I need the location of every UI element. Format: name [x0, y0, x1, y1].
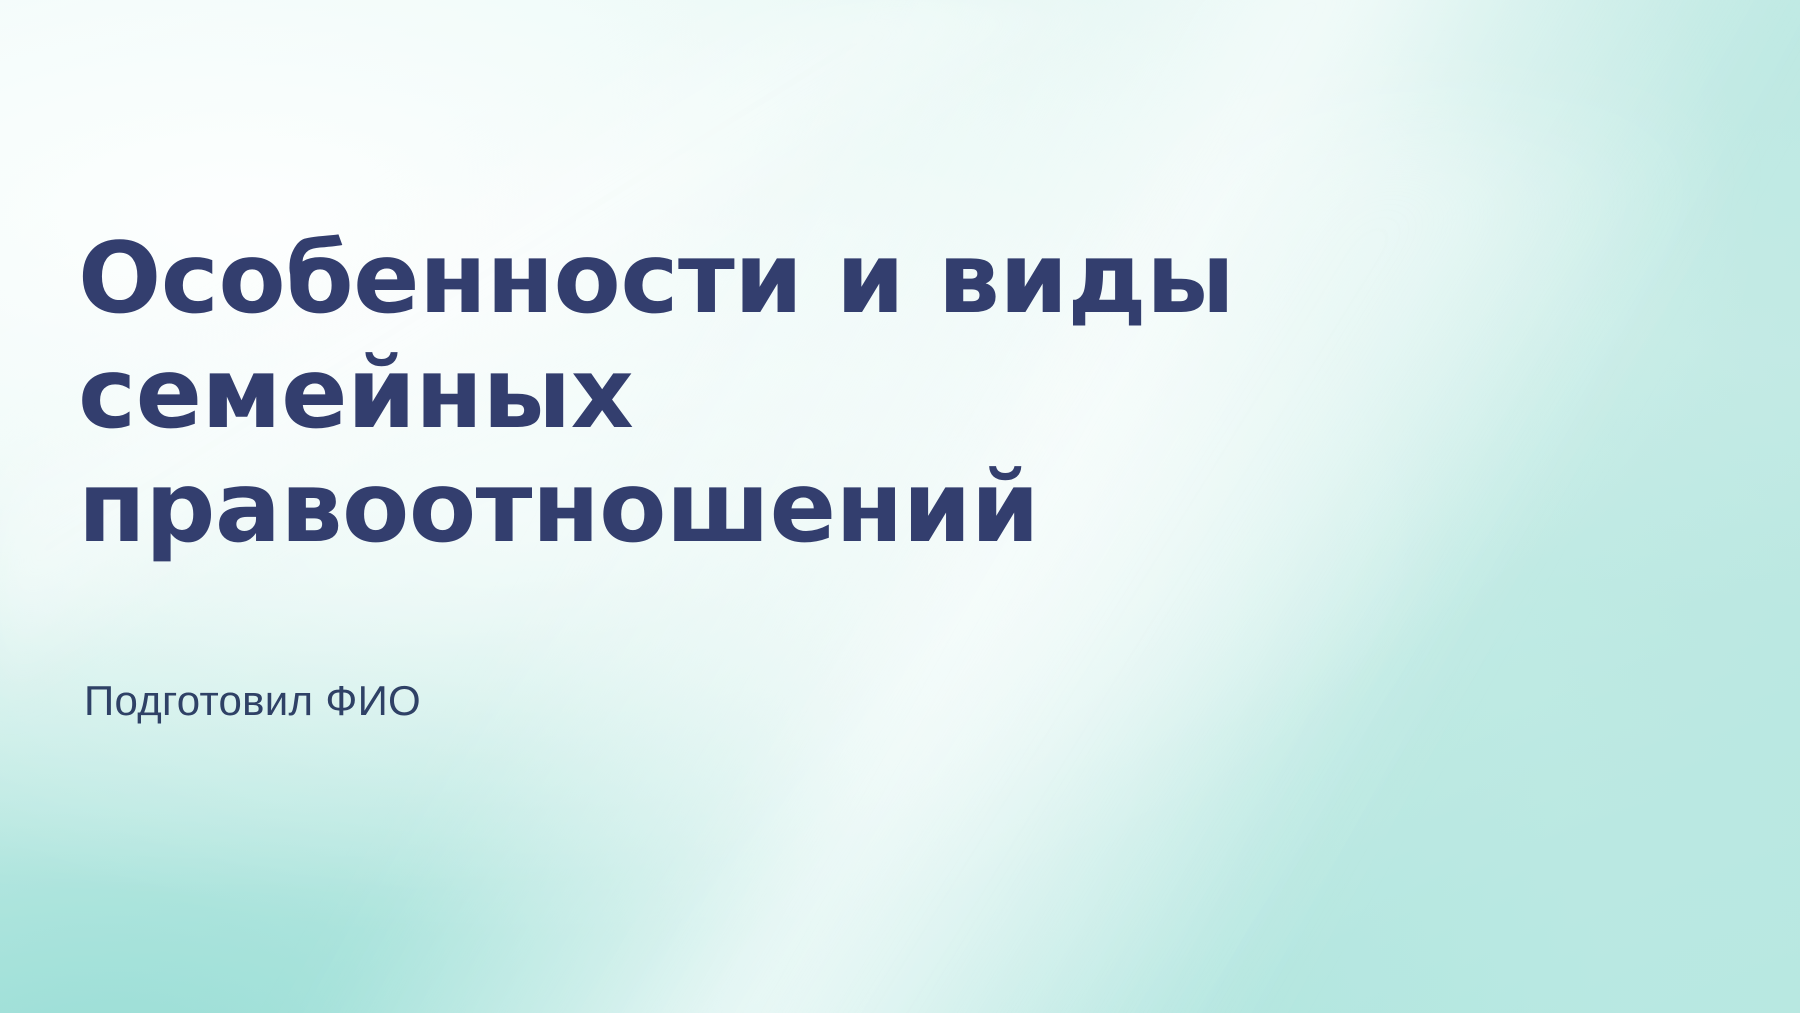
slide-content: Особенности и виды семейных правоотношен… — [78, 0, 1438, 1013]
title-slide: Особенности и виды семейных правоотношен… — [0, 0, 1800, 1013]
slide-subtitle-author: Подготовил ФИО — [84, 676, 421, 726]
slide-title: Особенности и виды семейных правоотношен… — [78, 222, 1388, 566]
